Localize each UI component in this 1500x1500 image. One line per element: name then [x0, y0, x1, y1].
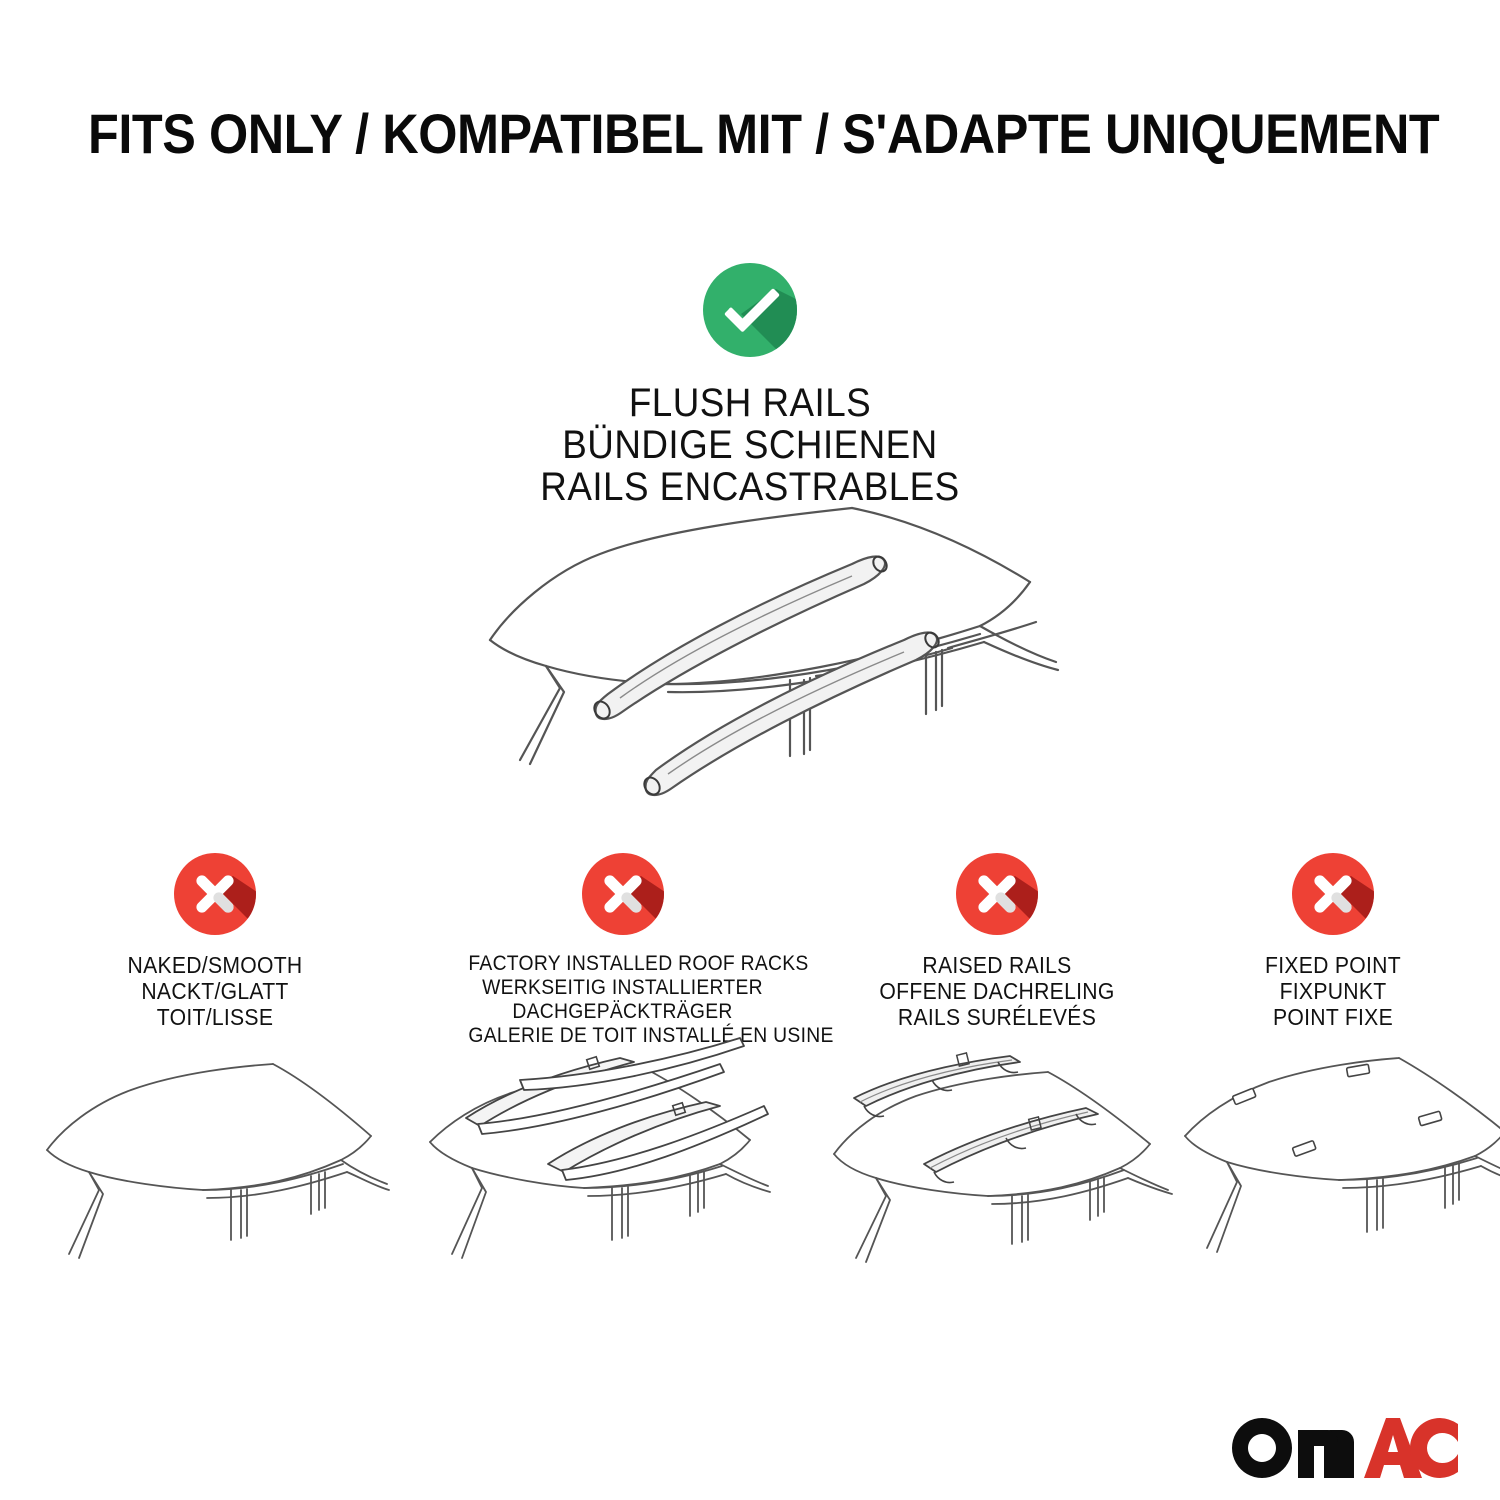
- incompatible-item-raised-rails: RAISED RAILS OFFENE DACHRELING RAILS SUR…: [832, 852, 1162, 1030]
- label-en: FACTORY INSTALLED ROOF RACKS: [468, 952, 776, 976]
- incompatible-labels: RAISED RAILS OFFENE DACHRELING RAILS SUR…: [845, 952, 1149, 1030]
- car-roof-naked-smooth-illustration: [35, 1058, 395, 1298]
- label-de: FIXPUNKT: [1181, 978, 1485, 1004]
- label-fr: TOIT/LISSE: [63, 1004, 367, 1030]
- red-cross-circle-icon: [173, 852, 257, 936]
- car-roof-raised-rails-illustration: [820, 1058, 1180, 1298]
- label-en: NAKED/SMOOTH: [63, 952, 367, 978]
- label-de: OFFENE DACHRELING: [845, 978, 1149, 1004]
- green-check-circle-icon: [702, 262, 798, 358]
- compatible-section: FLUSH RAILS BÜNDIGE SCHIENEN RAILS ENCAS…: [0, 262, 1500, 508]
- incompatible-item-fixed-point: FIXED POINT FIXPUNKT POINT FIXE: [1168, 852, 1498, 1030]
- incompatible-item-naked-smooth: NAKED/SMOOTH NACKT/GLATT TOIT/LISSE: [50, 852, 380, 1030]
- label-de-2: DACHGEPÄCKTRÄGER: [468, 1000, 776, 1024]
- red-cross-circle-icon: [1291, 852, 1375, 936]
- label-fr: RAILS SURÉLEVÉS: [845, 1004, 1149, 1030]
- compatible-label-en: FLUSH RAILS: [60, 382, 1440, 424]
- compatible-label-de: BÜNDIGE SCHIENEN: [60, 424, 1440, 466]
- label-en: RAISED RAILS: [845, 952, 1149, 978]
- red-cross-circle-icon: [581, 852, 665, 936]
- omac-logo: [1228, 1412, 1460, 1484]
- compatible-labels: FLUSH RAILS BÜNDIGE SCHIENEN RAILS ENCAS…: [60, 382, 1440, 508]
- label-de: NACKT/GLATT: [63, 978, 367, 1004]
- logo-letter-m: [1298, 1430, 1354, 1478]
- red-cross-circle-icon: [955, 852, 1039, 936]
- car-roof-fixed-point-illustration: [1175, 1058, 1500, 1298]
- page-title: FITS ONLY / KOMPATIBEL MIT / S'ADAPTE UN…: [88, 104, 1285, 164]
- incompatible-labels: FIXED POINT FIXPUNKT POINT FIXE: [1181, 952, 1485, 1030]
- label-en: FIXED POINT: [1181, 952, 1485, 978]
- car-roof-factory-rack-illustration: [420, 1058, 780, 1298]
- incompatible-labels: NAKED/SMOOTH NACKT/GLATT TOIT/LISSE: [63, 952, 367, 1030]
- incompatible-item-factory-rack: FACTORY INSTALLED ROOF RACKS WERKSEITIG …: [455, 852, 790, 1048]
- logo-letter-o: [1232, 1418, 1292, 1478]
- fitment-infographic: FITS ONLY / KOMPATIBEL MIT / S'ADAPTE UN…: [0, 0, 1500, 1500]
- label-fr: POINT FIXE: [1181, 1004, 1485, 1030]
- label-de-1: WERKSEITIG INSTALLIERTER: [468, 976, 776, 1000]
- car-roof-flush-rails-illustration: [460, 498, 1060, 798]
- incompatible-labels: FACTORY INSTALLED ROOF RACKS WERKSEITIG …: [468, 952, 776, 1048]
